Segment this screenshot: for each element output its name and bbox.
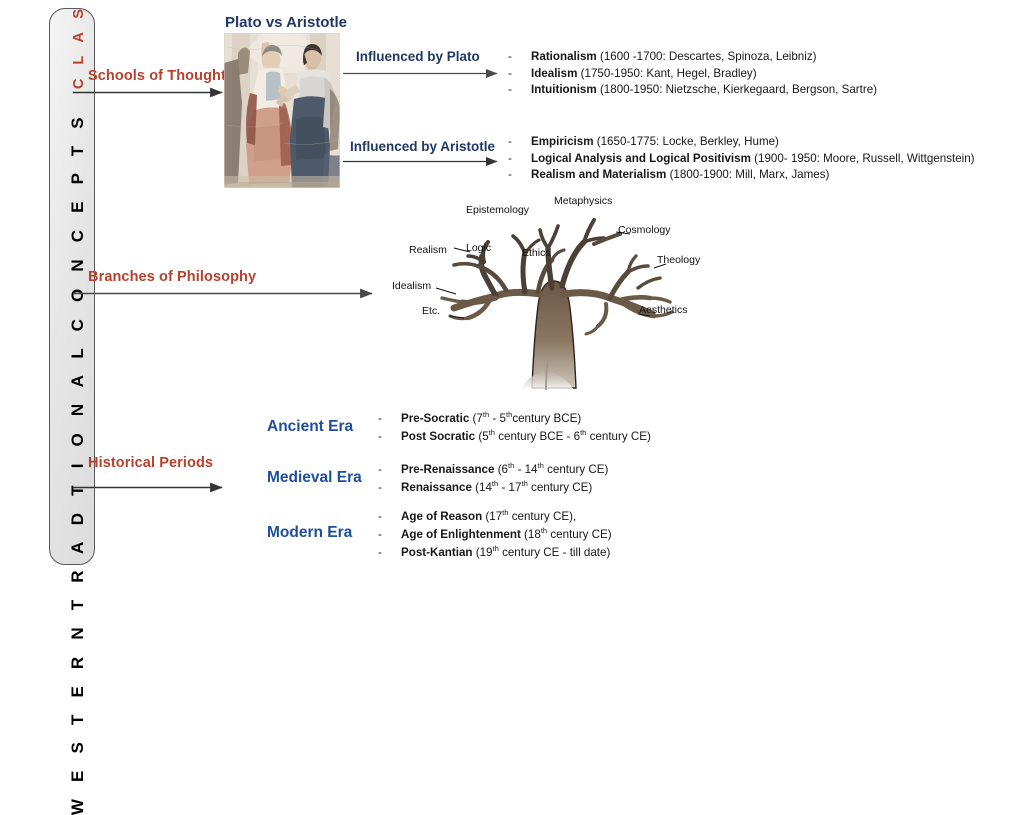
item-detail: (6th - 14th century CE) (498, 463, 609, 476)
era-title-medieval: Medieval Era (267, 469, 362, 487)
list-item: - Age of Enlightenment (18th century CE) (378, 526, 612, 544)
bullet-dash: - (378, 544, 401, 562)
tree-label-etc: Etc. (422, 305, 440, 317)
tree-label-ethics: Ethics (522, 247, 551, 259)
item-detail: (1800-1900: Mill, Marx, James) (670, 168, 830, 181)
item-name: Post-Kantian (401, 546, 473, 559)
bullet-dash: - (378, 526, 401, 544)
bullet-dash: - (508, 151, 531, 168)
bullet-list-aristotle: - Empiricism (1650-1775: Locke, Berkley,… (508, 134, 975, 184)
item-name: Rationalism (531, 50, 597, 63)
bullet-dash: - (378, 410, 401, 428)
list-item: - Age of Reason (17th century CE), (378, 508, 612, 526)
item-detail: (18th century CE) (524, 528, 612, 541)
item-detail: (1750-1950: Kant, Hegel, Bradley) (581, 67, 757, 80)
item-name: Realism and Materialism (531, 168, 666, 181)
item-detail: (1600 -1700: Descartes, Spinoza, Leibniz… (600, 50, 817, 63)
bullet-dash: - (508, 66, 531, 83)
item-detail: (1900- 1950: Moore, Russell, Wittgenstei… (754, 152, 974, 165)
item-detail: (17th century CE), (485, 510, 576, 523)
bullet-dash: - (378, 428, 401, 446)
banner-text-rotated: W E S T E R N T R A D T I O N A L C O N … (51, 13, 93, 561)
list-item: - Empiricism (1650-1775: Locke, Berkley,… (508, 134, 975, 151)
era-title-ancient: Ancient Era (267, 418, 353, 436)
item-name: Logical Analysis and Logical Positivism (531, 152, 751, 165)
list-item: - Post Socratic (5th century BCE - 6th c… (378, 428, 651, 446)
item-name: Empiricism (531, 135, 594, 148)
era-bullets-medieval: - Pre-Renaissance (6th - 14th century CE… (378, 461, 608, 497)
item-name: Post Socratic (401, 430, 475, 443)
item-name: Pre-Socratic (401, 412, 469, 425)
philosophy-tree-image: Epistemology Metaphysics Cosmology Reali… (380, 192, 720, 392)
tree-label-aesthetics: Aesthetics (639, 304, 687, 316)
bullet-dash: - (378, 508, 401, 526)
tree-label-cosmology: Cosmology (618, 224, 671, 236)
painting-title: Plato vs Aristotle (225, 14, 347, 31)
bullet-dash: - (508, 49, 531, 66)
group-heading-influenced-by-plato: Influenced by Plato (356, 49, 480, 64)
tree-label-epistemology: Epistemology (466, 204, 529, 216)
bullet-dash: - (508, 134, 531, 151)
era-bullets-modern: - Age of Reason (17th century CE), - Age… (378, 508, 612, 562)
item-name: Pre-Renaissance (401, 463, 494, 476)
list-item: - Intuitionism (1800-1950: Nietzsche, Ki… (508, 82, 877, 99)
tree-label-theology: Theology (657, 254, 700, 266)
list-item: - Idealism (1750-1950: Kant, Hegel, Brad… (508, 66, 877, 83)
banner-title-secondary: C L A S S I F I C A T I O N S (72, 0, 87, 89)
bullet-dash: - (508, 82, 531, 99)
item-detail: (14th - 17th century CE) (475, 481, 592, 494)
item-name: Renaissance (401, 481, 472, 494)
bullet-dash: - (378, 479, 401, 497)
branch-label-schools: Schools of Thought (88, 68, 226, 84)
item-detail: (7th - 5thcentury BCE) (473, 412, 582, 425)
era-title-modern: Modern Era (267, 524, 352, 542)
item-detail: (1650-1775: Locke, Berkley, Hume) (597, 135, 779, 148)
item-detail: (1800-1950: Nietzsche, Kierkegaard, Berg… (600, 83, 877, 96)
branch-label-historical: Historical Periods (88, 455, 213, 471)
bullet-list-plato: - Rationalism (1600 -1700: Descartes, Sp… (508, 49, 877, 99)
list-item: - Realism and Materialism (1800-1900: Mi… (508, 167, 975, 184)
list-item: - Pre-Socratic (7th - 5thcentury BCE) (378, 410, 651, 428)
era-bullets-ancient: - Pre-Socratic (7th - 5thcentury BCE) - … (378, 410, 651, 446)
item-name: Age of Enlightenment (401, 528, 521, 541)
list-item: - Rationalism (1600 -1700: Descartes, Sp… (508, 49, 877, 66)
school-of-athens-image (224, 33, 340, 188)
group-heading-influenced-by-aristotle: Influenced by Aristotle (350, 139, 495, 154)
list-item: - Pre-Renaissance (6th - 14th century CE… (378, 461, 608, 479)
bullet-dash: - (378, 461, 401, 479)
tree-label-idealism: Idealism (392, 280, 431, 292)
item-detail: (19th century CE - till date) (476, 546, 611, 559)
list-item: - Logical Analysis and Logical Positivis… (508, 151, 975, 168)
tree-label-metaphysics: Metaphysics (554, 195, 612, 207)
left-title-banner: W E S T E R N T R A D T I O N A L C O N … (49, 8, 95, 565)
banner-title-primary: W E S T E R N T R A D T I O N A L C O N … (69, 111, 87, 815)
tree-label-realism: Realism (409, 244, 447, 256)
tree-label-logic: Logic (466, 242, 491, 254)
item-name: Intuitionism (531, 83, 597, 96)
item-detail: (5th century BCE - 6th century CE) (478, 430, 651, 443)
item-name: Idealism (531, 67, 577, 80)
diagram-canvas: W E S T E R N T R A D T I O N A L C O N … (0, 0, 1024, 575)
item-name: Age of Reason (401, 510, 482, 523)
branch-label-branches: Branches of Philosophy (88, 269, 256, 285)
list-item: - Post-Kantian (19th century CE - till d… (378, 544, 612, 562)
bullet-dash: - (508, 167, 531, 184)
list-item: - Renaissance (14th - 17th century CE) (378, 479, 608, 497)
